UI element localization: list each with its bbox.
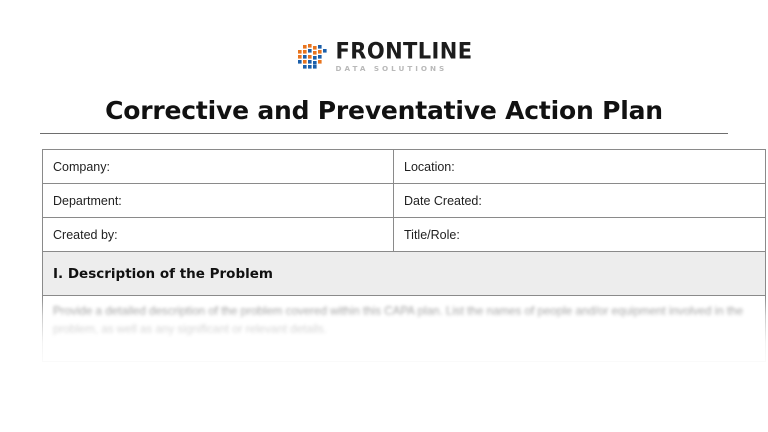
title-divider (40, 133, 728, 134)
section-heading-problem-description: I. Description of the Problem (43, 252, 766, 296)
logo-lockup: FRONTLINE DATA SOLUTIONS (296, 41, 473, 72)
document-page: FRONTLINE DATA SOLUTIONS Corrective and … (0, 0, 768, 432)
field-location-label: Location: (394, 150, 766, 184)
field-date-created-label: Date Created: (394, 184, 766, 218)
table-row: Department: Date Created: (43, 184, 766, 218)
document-info-table: Company: Location: Department: Date Crea… (42, 149, 766, 362)
logo-company-name: FRONTLINE (336, 40, 473, 62)
logo-wordmark: FRONTLINE DATA SOLUTIONS (336, 41, 473, 72)
table-row: Created by: Title/Role: (43, 218, 766, 252)
field-title-role-label: Title/Role: (394, 218, 766, 252)
frontline-pixel-mark-icon (296, 43, 330, 71)
logo-tagline: DATA SOLUTIONS (336, 65, 473, 72)
section-body-cell: Provide a detailed description of the pr… (43, 296, 766, 362)
field-company-label: Company: (43, 150, 394, 184)
table-row: Company: Location: (43, 150, 766, 184)
section-body-row: Provide a detailed description of the pr… (43, 296, 766, 362)
section-heading-row: I. Description of the Problem (43, 252, 766, 296)
section-body-problem-description: Provide a detailed description of the pr… (53, 303, 755, 339)
company-logo: FRONTLINE DATA SOLUTIONS (0, 41, 768, 72)
field-department-label: Department: (43, 184, 394, 218)
field-created-by-label: Created by: (43, 218, 394, 252)
page-title: Corrective and Preventative Action Plan (0, 96, 768, 125)
